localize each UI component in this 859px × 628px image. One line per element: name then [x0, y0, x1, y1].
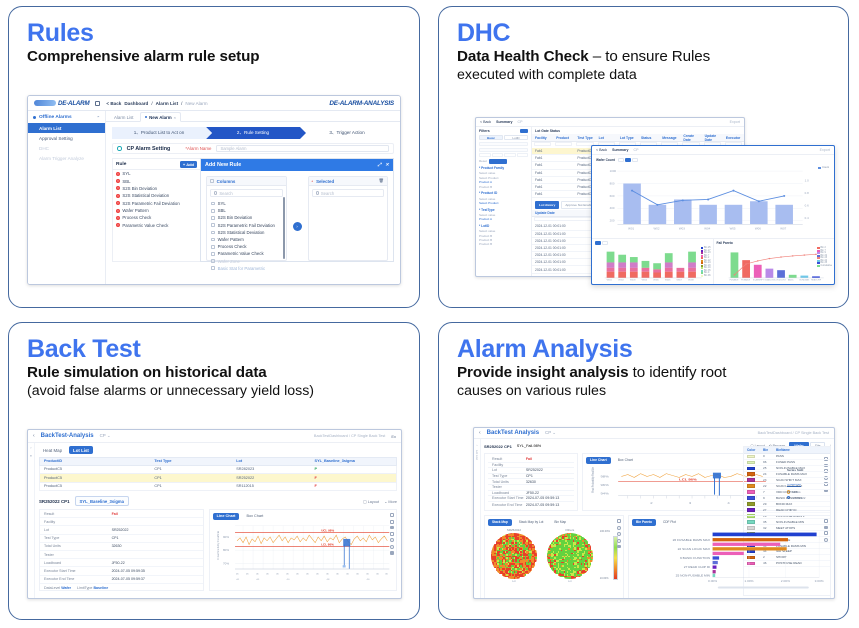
filter-input[interactable]	[479, 148, 528, 152]
bin-name: BASIC FUNCTION	[776, 496, 830, 500]
table-row-selected[interactable]: ProductC5 CP1 SR252022 F	[39, 474, 397, 483]
option-row[interactable]: SBL	[207, 207, 286, 214]
expand-icon[interactable]	[390, 513, 394, 517]
chevron-up-icon: ⌃	[97, 115, 100, 120]
svg-text:W005: W005	[653, 280, 659, 281]
svg-text:0.6: 0.6	[805, 204, 810, 208]
subtitle-bold-text: Provide insight analysis	[457, 364, 628, 381]
wizard-steps: 1、Product List to Act on 2、Rule Setting …	[112, 127, 394, 139]
error-icon: !	[116, 179, 120, 183]
reset-icon[interactable]	[617, 532, 621, 536]
lot-list-table: ProductID Test Type Lot SYL_Baseline_3si…	[39, 457, 397, 491]
bin-color-swatch	[744, 455, 763, 459]
chevron-left-icon[interactable]: ‹	[479, 430, 481, 436]
menu-icon[interactable]	[390, 551, 394, 554]
rail-label: Lot List	[475, 450, 479, 460]
rule-chip[interactable]: SYL_Baseline_3sigma	[75, 496, 129, 506]
kv-value	[112, 518, 203, 525]
yield-line-chart-svg: UCL 98% LCL 86% 90%80%70%	[213, 522, 393, 584]
bin-name: NON-FUSABLE MAX	[776, 466, 830, 470]
cp-tab[interactable]: CP	[517, 120, 522, 124]
kv-key: Tester	[488, 485, 526, 490]
error-icon: !	[116, 186, 120, 190]
menu-icon[interactable]: ≡	[28, 454, 34, 458]
kv-key: Lot	[40, 526, 112, 533]
panel-alarm-analysis: Alarm Analysis Provide insight analysis …	[438, 322, 849, 620]
panel-subtitle-line2-dhc: executed with complete data	[457, 67, 834, 84]
cell-lot: SR252022	[232, 474, 310, 482]
close-icon[interactable]: ✕	[385, 162, 389, 168]
error-icon: !	[116, 194, 120, 198]
filter-tab-lotid[interactable]: LotID	[504, 135, 528, 140]
error-icon: !	[116, 216, 120, 220]
cell-facility: Fab1	[532, 148, 574, 154]
date-cell[interactable]	[479, 153, 491, 157]
kv-value: 2024-07-05 09:59:13	[526, 502, 574, 508]
expand-icon[interactable]	[617, 519, 621, 523]
tab-stack-map-by-lot[interactable]: Stack Map by Lot	[515, 519, 548, 526]
tab-cdf-plot[interactable]: CDF Plot	[659, 519, 680, 526]
filter-section-label: * Product ID	[479, 191, 528, 195]
trash-icon[interactable]: 🗑	[379, 178, 384, 184]
tab-new-alarm[interactable]: New Alarm ×	[140, 112, 181, 122]
page-title: BackTest-Analysis	[41, 433, 94, 439]
kv-value: CP1	[526, 474, 574, 479]
side-rail: › Lot List	[474, 439, 481, 598]
option-row[interactable]: S2S Parametric Fail Deviation	[207, 222, 286, 229]
filter-cell[interactable]	[555, 142, 572, 146]
kv-key: Result	[488, 457, 526, 462]
mode-option[interactable]	[632, 158, 638, 162]
svg-text:READCHIP: READCHIP	[811, 279, 822, 281]
add-rule-button[interactable]: + Add	[180, 161, 197, 168]
svg-text:-01: -01	[236, 579, 240, 581]
rule-item[interactable]: !SBL	[113, 177, 200, 184]
date-cell[interactable]	[492, 153, 504, 157]
rule-chip[interactable]: SYL_Fail-98%	[517, 444, 541, 448]
cell-test-type: CP1	[150, 474, 232, 482]
option-row[interactable]: S2S Bin Deviation	[207, 214, 286, 221]
svg-text:W001: W001	[607, 280, 613, 281]
reset-icon[interactable]	[390, 545, 394, 549]
filter-option-selected[interactable]: Select Product	[479, 201, 528, 205]
chart-title: Wafer Count	[596, 158, 615, 162]
tab-lot-list[interactable]: Lot List	[69, 446, 93, 454]
option-label: Wafer Pattern	[218, 237, 244, 242]
tab-bin-pareto[interactable]: Bin Pareto	[632, 519, 656, 526]
columns-option-list: SYL SBL S2S Bin Deviation S2S Parametric…	[207, 200, 286, 272]
bin-number: 0	[763, 454, 776, 458]
app-topbar: < Back Summary CP Export	[476, 118, 744, 127]
cell-facility: Fab1	[532, 162, 574, 168]
zoom-icon[interactable]	[617, 539, 621, 543]
rule-item[interactable]: !Parametric Value Check	[113, 222, 200, 229]
svg-text:W003: W003	[630, 280, 636, 281]
step-rule-setting[interactable]: 2、Rule Setting	[206, 127, 300, 139]
export-button[interactable]: Ex	[391, 434, 396, 439]
rule-item[interactable]: !S2S Statistical Deviation	[113, 192, 200, 199]
checkbox[interactable]	[211, 245, 215, 249]
bin-number: 23	[763, 478, 776, 482]
legend-entry[interactable]: Bin 96	[701, 275, 711, 277]
col-executor[interactable]: Executor	[723, 134, 744, 141]
svg-text:3.00%: 3.00%	[815, 579, 825, 582]
list-icon[interactable]	[95, 101, 100, 106]
svg-text:200: 200	[610, 219, 615, 223]
download-icon[interactable]	[390, 526, 394, 529]
checkbox[interactable]	[211, 231, 215, 235]
option-row[interactable]: Wafer Pattern	[207, 236, 286, 243]
sidebar-item-dhc[interactable]: DHC	[28, 143, 105, 153]
step-product-list[interactable]: 1、Product List to Act on	[112, 127, 206, 139]
col-test-type[interactable]: Test Type	[150, 458, 232, 465]
cat-label: 27 READ CHIP ID	[684, 566, 710, 569]
rule-items: !SYL !SBL !S2S Bin Deviation !S2S Statis…	[113, 170, 200, 229]
col-bin[interactable]: Bin	[763, 447, 776, 453]
feature-overview-grid: Rules Comprehensive alarm rule setup DE-…	[0, 0, 859, 628]
pareto-svg: FUSABLEFUSABLESCANSHIFT SCANLOGICVDDCONT…	[717, 247, 832, 281]
svg-text:W007: W007	[677, 280, 683, 281]
rule-item-label: S2S Statistical Deviation	[122, 193, 169, 198]
more-button[interactable]: ⌄ More	[384, 499, 397, 504]
svg-text:W06: W06	[755, 227, 761, 231]
svg-text:4: 4	[727, 502, 729, 505]
app-topbar: DE-ALARM < Back Dashboard / Alarm List /…	[28, 96, 400, 111]
filter-input[interactable]	[479, 142, 528, 146]
bin-number: 29	[763, 502, 776, 506]
back-link[interactable]: < Back	[480, 120, 491, 124]
cp-alarm-setting-row: CP Alarm Setting *Alarm Name Sample Alar…	[112, 143, 394, 154]
cell-facility: Fab1	[532, 177, 574, 183]
sidebar-item-approval-setting[interactable]: Approval Setting	[28, 133, 105, 143]
col-lot[interactable]: Lot	[596, 134, 617, 141]
alarm-name-input[interactable]: Sample Alarm	[216, 145, 389, 152]
col-test-type[interactable]: Test Type	[574, 134, 595, 141]
download-icon[interactable]	[824, 526, 828, 529]
expand-icon[interactable]	[824, 519, 828, 523]
table-row[interactable]: ProductC5 CP1 SR282023 P	[39, 466, 397, 475]
columns-picker: Columns Search SYL SBL	[206, 176, 287, 261]
combo-chart-svg: 1000800 600400200 W01W02W03 W04W05W06 W0…	[596, 164, 830, 233]
table-row[interactable]: ProductC5 CP1 SR112015 F	[39, 483, 397, 492]
summary-tab[interactable]: Summary	[612, 148, 628, 152]
wafer-label: Lot	[544, 580, 596, 583]
screenshot-rules-app: DE-ALARM < Back Dashboard / Alarm List /…	[27, 95, 401, 285]
filter-option[interactable]: Product B	[479, 185, 528, 189]
tab-heat-map[interactable]: Heat Map	[39, 446, 66, 454]
select-all-checkbox[interactable]	[210, 179, 214, 183]
scrollbar-thumb[interactable]	[283, 197, 285, 259]
step-trigger-action[interactable]: 3、Trigger Action	[300, 127, 394, 139]
kv-value: 2024-07-05 09:59:13	[526, 496, 574, 501]
panel-subtitle-line2-backtest: (avoid false alarms or unnecessary yield…	[27, 383, 405, 400]
svg-text:-10: -10	[286, 579, 290, 581]
error-icon: !	[116, 201, 120, 205]
detail-footer: DataLevel Wafer LimitType Baseline	[40, 584, 203, 590]
section-title: CP Alarm Setting	[127, 146, 171, 152]
rule-list-panel: Rule + Add !SYL !SBL !S2S Bin Deviation …	[112, 158, 200, 262]
kv-key: Lot	[488, 468, 526, 473]
settings-icon[interactable]	[390, 538, 394, 542]
option-row[interactable]: Process Check	[207, 243, 286, 250]
detail-key-values: ResultFail Facility LotSR252022 Test Typ…	[39, 509, 204, 591]
rule-item[interactable]: !Wafer Pattern	[113, 207, 200, 214]
svg-text:0.00%: 0.00%	[708, 579, 718, 582]
bin-color-swatch	[744, 478, 763, 482]
svg-text:SCANLOGIC: SCANLOGIC	[764, 279, 776, 281]
wafer-map-red[interactable]	[491, 533, 537, 579]
svg-text:90%: 90%	[223, 535, 229, 539]
detail-key-values: ResultFail Facility LotSR252022 Test Typ…	[484, 453, 578, 511]
sidebar-item-alarm-trigger-analyze[interactable]: Alarm Trigger Analyze	[28, 154, 105, 164]
svg-text:06: 06	[296, 573, 299, 575]
option-row-disabled: Basic Stat for Parametric	[207, 265, 286, 272]
col-facility[interactable]: Facility	[532, 134, 553, 141]
svg-text:-18: -18	[326, 579, 330, 581]
selected-search-input[interactable]: Search	[312, 189, 385, 197]
wafer-map-cell: SR252022 Lot	[488, 528, 540, 583]
svg-text:06: 06	[256, 573, 259, 575]
kv-value: SR252022	[526, 468, 574, 473]
col-status[interactable]: Status	[638, 134, 659, 141]
tab-alarm-list[interactable]: Alarm List	[110, 113, 138, 121]
checkbox[interactable]	[211, 209, 215, 213]
close-icon[interactable]: ×	[174, 115, 176, 120]
option-row[interactable]: S2S Statistical Deviation	[207, 229, 286, 236]
svg-text:-26: -26	[366, 579, 370, 581]
legend-entry[interactable]: Count	[818, 166, 829, 169]
filter-cell[interactable]	[534, 142, 551, 146]
col-product-id[interactable]: ProductID	[40, 458, 150, 465]
checkbox[interactable]	[211, 252, 215, 256]
panel-rules: Rules Comprehensive alarm rule setup DE-…	[8, 6, 420, 308]
bin-name: FUSED PASS	[776, 460, 830, 464]
panel-subtitle-line2-alarm: causes on various rules	[457, 383, 834, 400]
app-logo: DE-ALARM	[34, 100, 89, 107]
sidebar-item-alarm-list[interactable]: Alarm List	[28, 123, 105, 133]
chart-tool-icons	[824, 519, 828, 542]
bin-pareto-card: Bin Pareto CDF Plot	[628, 515, 831, 599]
columns-header: Columns	[217, 179, 236, 184]
svg-text:70%: 70%	[223, 561, 229, 565]
cp-selector[interactable]: CP ⌄	[545, 430, 556, 436]
rule-item[interactable]: !S2S Bin Deviation	[113, 185, 200, 192]
copy-icon[interactable]	[390, 520, 394, 524]
legend-label: Count	[822, 166, 829, 169]
svg-text:06: 06	[276, 573, 279, 575]
svg-text:VDDCONT: VDDCONT	[776, 280, 787, 281]
move-right-button[interactable]: ›	[293, 222, 302, 231]
kv-key: Test Type	[488, 474, 526, 479]
breadcrumb-back[interactable]: < Back	[106, 101, 121, 106]
rule-item-label: Parametric Value Check	[122, 223, 168, 228]
breadcrumb-dashboard[interactable]: Dashboard	[124, 101, 148, 106]
tab-box-chart[interactable]: Box Chart	[242, 513, 267, 520]
step-label: 2、Rule Setting	[237, 130, 269, 136]
kv-row: Executor End Time2024-07-05 09:59:13	[488, 502, 574, 508]
table-header-row: ProductID Test Type Lot SYL_Baseline_3si…	[39, 457, 397, 466]
view-tabs: Heat Map Lot List	[39, 446, 397, 454]
kv-value: JF50-22	[526, 491, 574, 496]
kv-key: Tester	[40, 551, 112, 558]
table-icon[interactable]	[824, 531, 828, 535]
colorbar-max: 100.00%	[600, 530, 610, 533]
svg-text:06: 06	[246, 573, 249, 575]
rule-item-label: SYL	[122, 171, 130, 176]
kv-key: Total Units	[40, 543, 112, 550]
mode-option-selected[interactable]	[595, 241, 601, 245]
filter-option-selected[interactable]: Product A	[479, 217, 528, 221]
svg-text:400: 400	[610, 206, 615, 210]
svg-text:2: 2	[650, 502, 652, 505]
kv-row: Test TypeCP1	[40, 535, 203, 543]
tab-box-chart[interactable]: Box Chart	[614, 457, 637, 464]
option-label: SYL	[218, 201, 226, 206]
collapse-icon[interactable]: ›	[28, 446, 34, 450]
pareto-title: Fail Pareto	[717, 241, 733, 245]
col-bin-name[interactable]: BinName	[776, 447, 830, 453]
option-row[interactable]: SYL	[207, 200, 286, 207]
col-create-date[interactable]: Create Date	[680, 134, 701, 141]
screenshot-backtest-app: ‹ BackTest-Analysis CP ⌄ BackTestDashboa…	[27, 429, 402, 599]
bin-number: 9	[763, 496, 776, 500]
back-link[interactable]: < Back	[596, 148, 607, 152]
checkbox[interactable]	[211, 202, 215, 206]
screenshot-dhc-charts: < Back Summary CP Export Wafer Count	[591, 145, 835, 285]
cell-result: F	[311, 483, 396, 491]
subtab-lot-history[interactable]: Lot History	[535, 201, 559, 209]
sidebar-item-label: Alarm Trigger Analyze	[39, 156, 84, 161]
tab-stack-map[interactable]: Stack Map	[488, 519, 512, 526]
kv-key: Loadboard	[40, 559, 112, 566]
rule-item[interactable]: !Process Check	[113, 214, 200, 221]
export-button[interactable]: Export	[730, 120, 740, 124]
filter-tab-basic[interactable]: Basic	[479, 135, 503, 140]
breadcrumb-current: New Alarm	[185, 101, 207, 106]
menu-icon[interactable]	[617, 545, 621, 548]
col-message[interactable]: Message	[659, 134, 680, 141]
checkbox[interactable]	[211, 238, 215, 242]
svg-text:06: 06	[356, 573, 359, 575]
checkbox[interactable]	[211, 223, 215, 227]
panel-backtest: Back Test Rule simulation on historical …	[8, 322, 420, 620]
breadcrumb: BackTestDashboard / CP Single Back Test	[314, 434, 385, 438]
search-icon	[316, 191, 319, 194]
col-syl-baseline[interactable]: SYL_Baseline_3sigma	[311, 458, 396, 465]
table-header-row: Color Bin BinName	[744, 447, 830, 454]
svg-text:0.8: 0.8	[805, 191, 810, 195]
col-lot-type[interactable]: Lot Type	[617, 134, 638, 141]
mode-option[interactable]	[618, 158, 624, 162]
filter-section-label: * Product Family	[479, 166, 528, 170]
col-update-date[interactable]: Update Date	[702, 134, 723, 141]
panel-cell-rules: Rules Comprehensive alarm rule setup DE-…	[0, 0, 430, 316]
chart-tool-icons	[617, 519, 621, 548]
wafer-map-green[interactable]	[547, 533, 593, 579]
col-product[interactable]: Product	[553, 134, 574, 141]
kv-row: Facility	[40, 518, 203, 526]
breadcrumb: < Back Dashboard / Alarm List / New Alar…	[106, 101, 207, 106]
columns-search-input[interactable]: Search	[210, 189, 283, 197]
breadcrumb-alarm-list[interactable]: Alarm List	[156, 101, 178, 106]
date-cell[interactable]	[517, 153, 529, 157]
app-name-label: DE-ALARM-ANALYSIS	[329, 100, 394, 107]
panel-title-rules: Rules	[27, 21, 405, 47]
expand-icon[interactable]: ⤢	[377, 162, 381, 168]
rule-item[interactable]: !S2S Parametric Fail Deviation	[113, 200, 200, 207]
option-row[interactable]: Parametric Value Check	[207, 250, 286, 257]
cell-test-type: CP1	[150, 466, 232, 474]
error-icon: !	[116, 223, 120, 227]
breadcrumb: BackTestDashboard / CP Single Back Test	[758, 431, 829, 435]
legend-entry[interactable]: Cumulative	[817, 265, 832, 267]
mode-option-selected[interactable]	[625, 158, 631, 162]
mode-option[interactable]	[602, 241, 608, 245]
option-label: Basic Stat for Parametric	[218, 266, 266, 271]
filter-title: Filters	[479, 129, 490, 133]
filter-option[interactable]: Product B	[479, 242, 528, 246]
filter-section-label: * LotID	[479, 224, 528, 228]
kv-value: 2024-07-05 09:59:37	[112, 576, 203, 583]
dot-icon	[145, 116, 148, 119]
tab-line-chart[interactable]: Line Chart	[213, 513, 240, 520]
kv-key: Test Type	[40, 535, 112, 542]
kv-value: 2024-07-05 09:59:35	[112, 567, 203, 574]
tab-line-chart[interactable]: Line Chart	[586, 457, 611, 464]
cp-tab[interactable]: CP	[633, 148, 638, 152]
app-topbar: ‹ BackTest-Analysis CP ⌄ BackTestDashboa…	[28, 430, 401, 443]
svg-text:06: 06	[385, 573, 388, 575]
cat-label: 22 SCAN LOGIC MAX	[678, 547, 711, 550]
export-button[interactable]: Export	[820, 148, 830, 152]
svg-text:W03: W03	[679, 227, 685, 231]
selected-header: Selected	[316, 179, 334, 184]
settings-icon[interactable]	[824, 538, 828, 542]
option-label: Process Check	[218, 244, 247, 249]
col-lot[interactable]: Lot	[232, 458, 310, 465]
bin-color-swatch	[744, 467, 763, 471]
panel-dhc: DHC Data Health Check – to ensure Rules …	[438, 6, 849, 308]
subtitle-rest-text: – to ensure Rules	[589, 48, 710, 65]
query-button[interactable]	[489, 159, 507, 164]
col-color[interactable]: Color	[744, 447, 763, 453]
cell-product-id: ProductC5	[40, 483, 150, 491]
screenshot-alarm-analysis-app: ‹ BackTest Analysis CP ⌄ BackTestDashboa…	[473, 427, 835, 599]
sidebar-group-offline-alarms[interactable]: Offline Alarms ⌃	[28, 113, 105, 123]
table-icon[interactable]	[390, 532, 394, 536]
kv-key: Executor Start Time	[488, 496, 526, 501]
subtitle-bold-text: Comprehensive alarm rule setup	[27, 48, 260, 65]
checkbox[interactable]	[211, 216, 215, 220]
svg-text:800: 800	[610, 182, 615, 186]
layout-button[interactable]: ▢ Layout	[363, 499, 379, 504]
wafer-map-cell: Others Lot	[544, 528, 596, 583]
chevron-left-icon[interactable]: ‹	[33, 433, 35, 439]
cp-selector[interactable]: CP ⌄	[100, 433, 111, 439]
checkbox	[211, 259, 215, 263]
tab-bin-map[interactable]: Bin Map	[550, 519, 570, 526]
rule-item-label: Process Check	[122, 215, 151, 220]
collapse-icon[interactable]: ›	[474, 443, 480, 447]
rule-item-label: S2S Parametric Fail Deviation	[122, 201, 179, 206]
date-cell[interactable]	[504, 153, 516, 157]
rule-item[interactable]: !SYL	[113, 170, 200, 177]
summary-tab[interactable]: Summary	[496, 120, 512, 124]
chart-mode-toggle[interactable]	[618, 158, 638, 162]
line-chart-card: Line Chart Box Chart	[209, 509, 397, 591]
settings-icon[interactable]	[617, 526, 621, 530]
rule-item-label: Wafer Pattern	[122, 208, 148, 213]
